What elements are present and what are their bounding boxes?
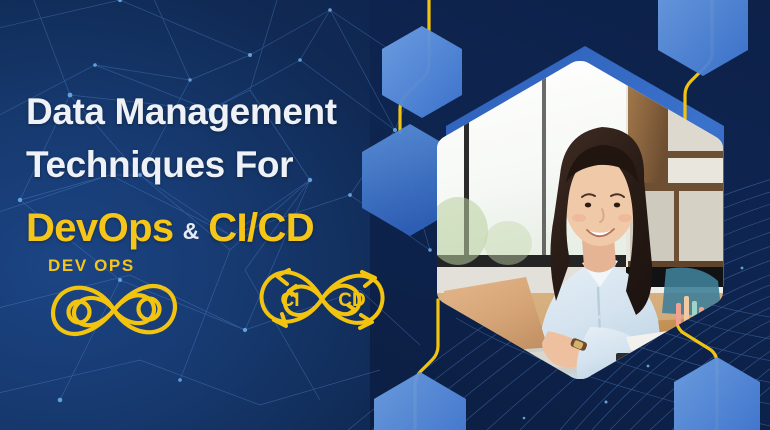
devops-logo: DEV OPS [34,256,194,342]
subheadline-devops: DevOps [26,206,174,251]
promo-banner: Data Management Techniques For DevOps & … [0,0,770,430]
infinity-loop-icon [34,278,194,342]
subheadline-cicd: CI/CD [208,206,314,251]
headline-block: Data Management Techniques For [26,86,416,191]
headline-line-2: Techniques For [26,139,416,192]
headline-line-1: Data Management [26,86,416,139]
cicd-left-label: CI [281,290,300,311]
devops-wordmark: DEV OPS [48,256,135,276]
cicd-right-label: CD [338,290,365,311]
cicd-logo: CI CD [252,258,392,340]
cicd-infinity-arrows-icon: CI CD [252,258,392,340]
subheadline-block: DevOps & CI/CD [26,206,314,251]
hero-photo-hexagon [430,55,730,385]
subheadline-ampersand: & [183,218,200,245]
